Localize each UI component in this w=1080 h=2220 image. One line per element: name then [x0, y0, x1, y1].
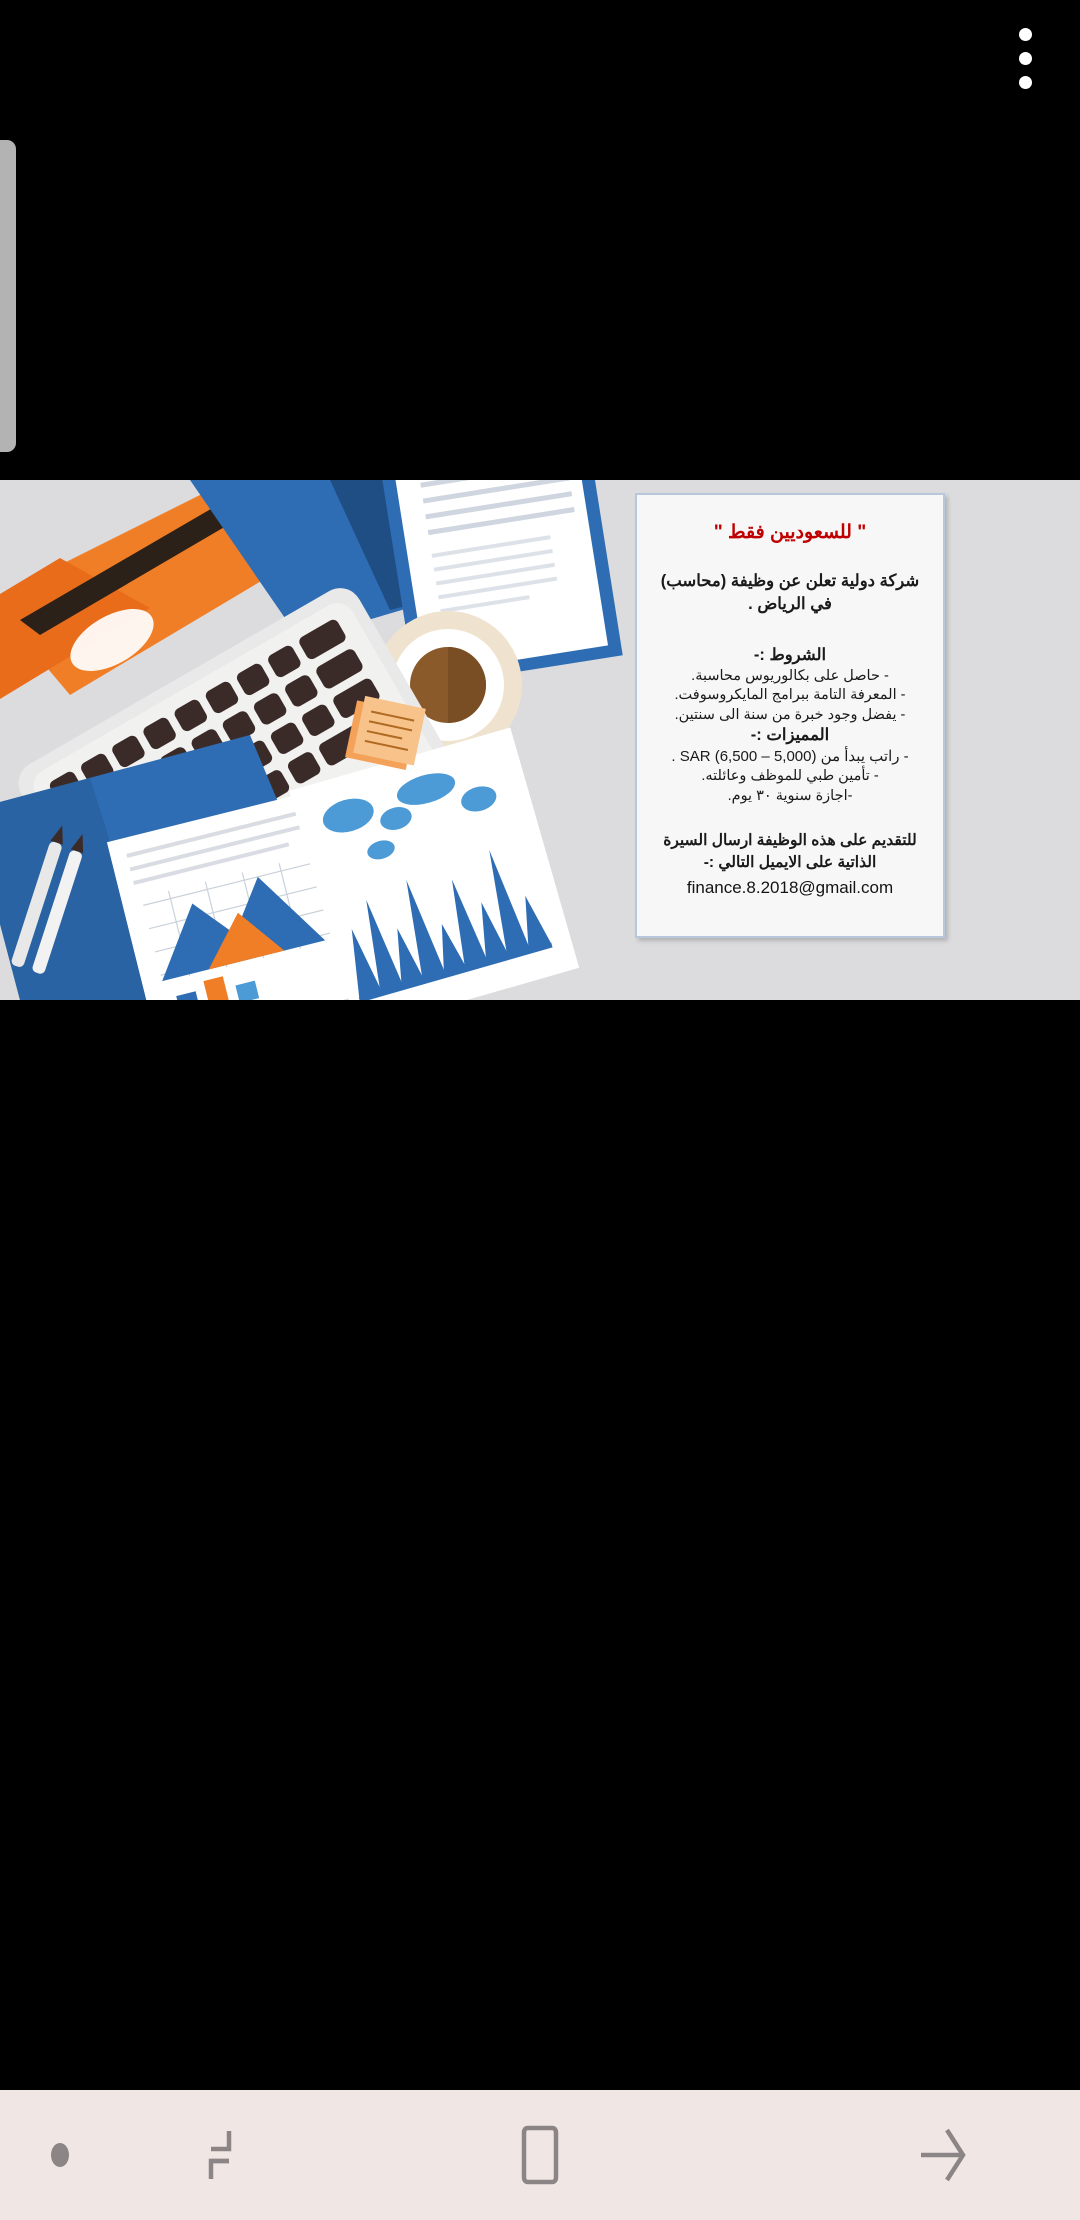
ad-headline: " للسعوديين فقط " — [651, 521, 929, 544]
nav-status-dot — [0, 2090, 120, 2220]
image-viewer-surface[interactable]: " للسعوديين فقط " شركة دولية تعلن عن وظي… — [0, 0, 1080, 2090]
condition-item-3: - يفضل وجود خبرة من سنة الى سنتين. — [651, 706, 929, 725]
benefit-item-3: -اجازة سنوية ٣٠ يوم. — [651, 787, 929, 806]
condition-item-1: - حاصل على بكالوريوس محاسبة. — [651, 667, 929, 686]
benefits-heading: المميزات :- — [651, 725, 929, 745]
more-dot-2 — [1019, 52, 1032, 65]
displayed-image[interactable]: " للسعوديين فقط " شركة دولية تعلن عن وظي… — [0, 480, 1080, 1000]
conditions-heading: الشروط :- — [651, 645, 929, 665]
status-dot-icon — [51, 2143, 69, 2167]
android-navigation-bar — [0, 2090, 1080, 2220]
more-dot-1 — [1019, 28, 1032, 41]
ad-intro: شركة دولية تعلن عن وظيفة (محاسب) في الري… — [651, 570, 929, 617]
benefit-item-1: - راتب يبدأ من (5,000 – 6,500) SAR . — [651, 747, 929, 767]
ad-apply-instructions: للتقديم على هذه الوظيفة ارسال السيرة الذ… — [651, 830, 929, 873]
scrollbar-handle[interactable] — [0, 140, 16, 452]
nav-back-button[interactable] — [820, 2090, 1070, 2220]
recents-icon — [193, 2123, 247, 2187]
nav-home-button[interactable] — [390, 2090, 690, 2220]
condition-item-2: - المعرفة التامة ببرامج المايكروسوفت. — [651, 686, 929, 705]
desk-workspace-illustration — [0, 480, 640, 1000]
ad-email: finance.8.2018@gmail.com — [651, 878, 929, 898]
benefit-item-2: - تأمين طبي للموظف وعائلته. — [651, 767, 929, 786]
home-icon — [512, 2120, 568, 2190]
job-advertisement-card: " للسعوديين فقط " شركة دولية تعلن عن وظي… — [635, 493, 945, 938]
more-dot-3 — [1019, 76, 1032, 89]
nav-recents-button[interactable] — [120, 2090, 320, 2220]
back-arrow-icon — [913, 2122, 977, 2188]
more-vertical-icon[interactable] — [998, 18, 1052, 98]
